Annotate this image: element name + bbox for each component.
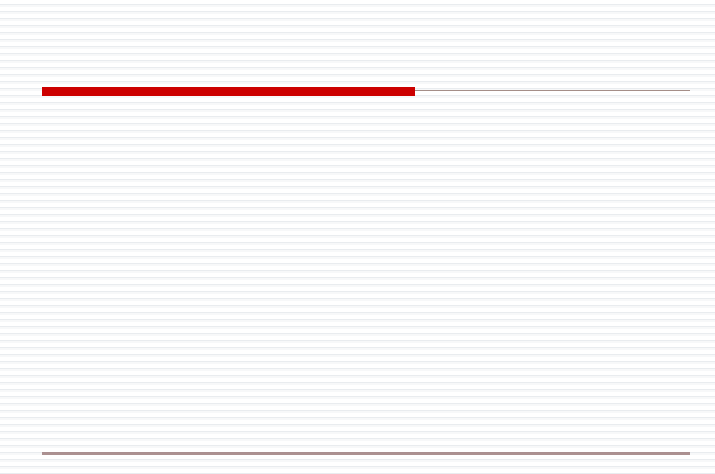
footer-rule [42, 452, 690, 455]
org-chart-slide [0, 0, 715, 474]
title-underline-red-bar [42, 87, 415, 96]
